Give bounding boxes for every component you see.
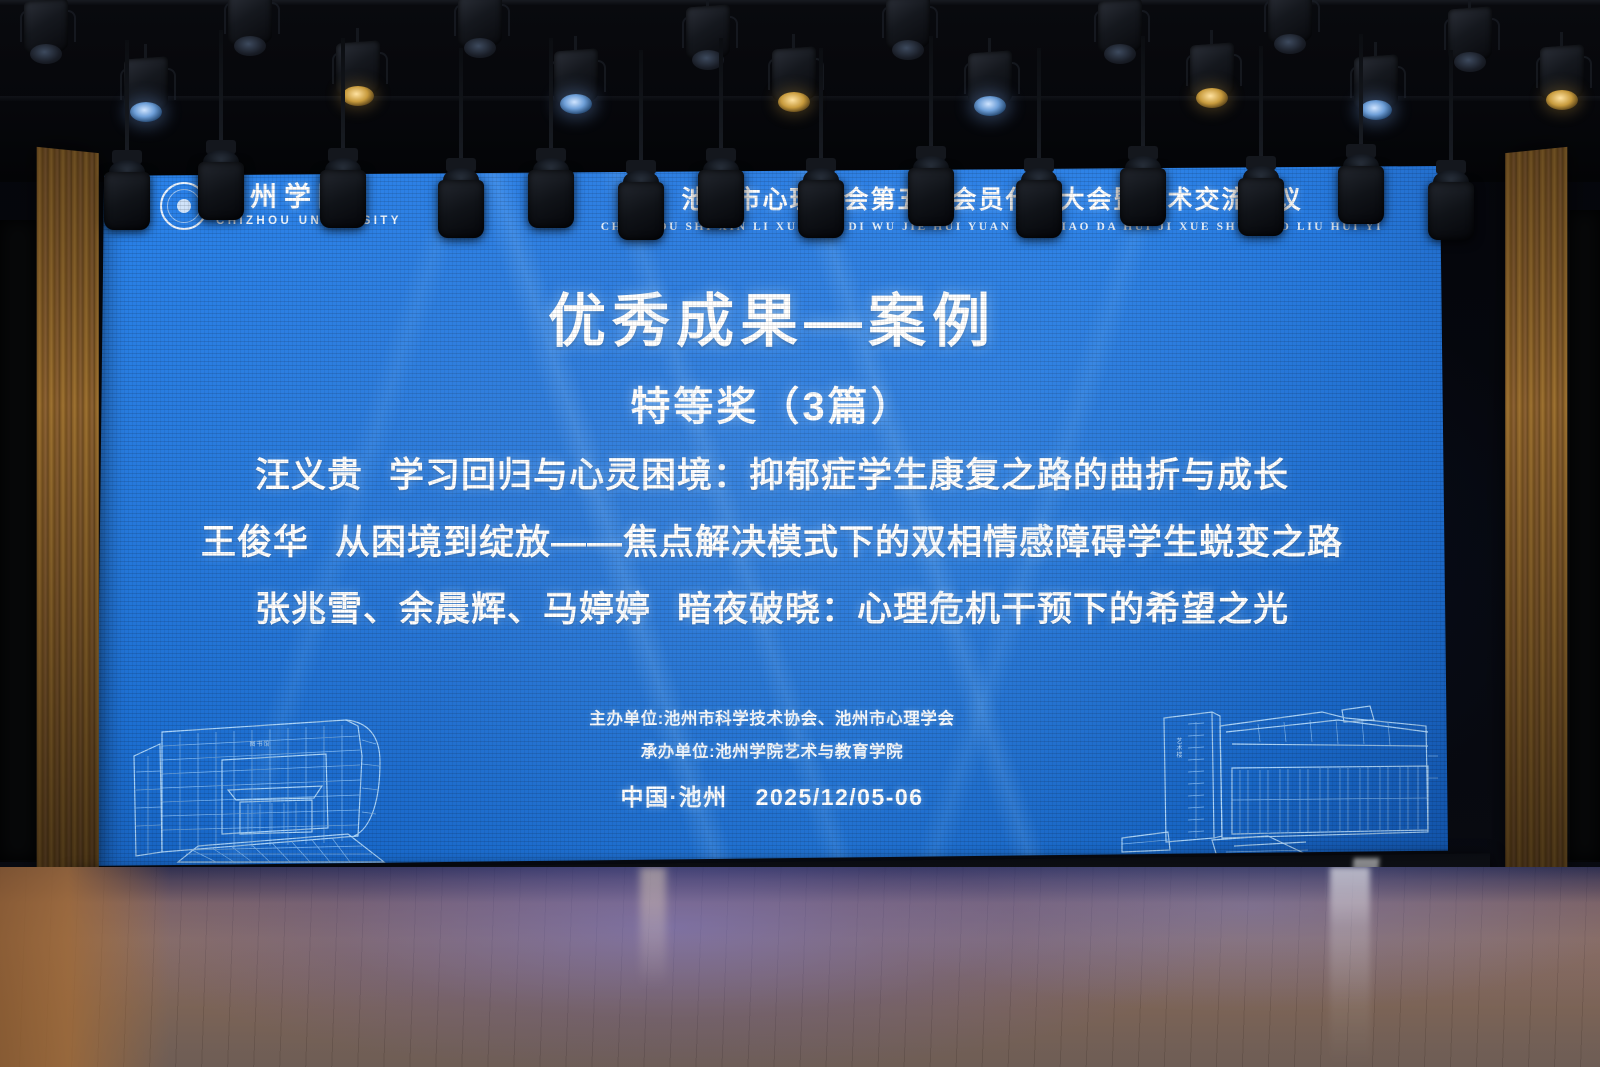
hanging-stage-light-icon	[1330, 154, 1392, 240]
hanging-stage-light-icon	[312, 158, 374, 244]
left-wood-proscenium	[37, 147, 99, 883]
stage-light-icon	[330, 42, 386, 116]
entry-work-title: 从困境到绽放——焦点解决模式下的双相情感障碍学生蜕变之路	[335, 523, 1343, 562]
award-entry: 王俊华从困境到绽放——焦点解决模式下的双相情感障碍学生蜕变之路	[120, 525, 1424, 560]
event-date-line: 中国·池州2025/12/05-06	[96, 778, 1448, 812]
event-city: 中国·池州	[620, 784, 727, 810]
stage-scene: 池州学院 CHIZHOU UNIVERSITY 池州市心理学会第五届会员代表大会…	[0, 0, 1600, 1067]
hanging-stage-light-icon	[1230, 166, 1292, 252]
left-dark-edge	[0, 220, 36, 860]
conference-slide: 池州学院 CHIZHOU UNIVERSITY 池州市心理学会第五届会员代表大会…	[96, 166, 1448, 866]
hanging-stage-light-icon	[96, 160, 158, 246]
led-display-screen: 池州学院 CHIZHOU UNIVERSITY 池州市心理学会第五届会员代表大会…	[96, 166, 1448, 866]
stage-light-icon	[962, 52, 1018, 126]
hanging-stage-light-icon	[900, 156, 962, 242]
hanging-stage-light-icon	[520, 158, 582, 244]
event-date: 2025/12/05-06	[756, 784, 924, 810]
award-entry: 张兆雪、余晨辉、马婷婷暗夜破晓：心理危机干预下的希望之光	[120, 592, 1424, 627]
floor-left-warm-edge	[0, 867, 170, 1067]
entry-author: 王俊华	[201, 523, 309, 562]
hanging-stage-light-icon	[190, 150, 252, 236]
stage-light-icon	[548, 50, 604, 124]
stage-light-icon	[1184, 44, 1240, 118]
entry-work-title: 暗夜破晓：心理危机干预下的希望之光	[677, 590, 1289, 629]
hanging-stage-light-icon	[790, 168, 852, 254]
stage-light-icon	[680, 6, 736, 80]
stage-light-icon	[1092, 0, 1148, 74]
co-organizer-line: 承办单位:池州学院艺术与教育学院	[96, 738, 1448, 762]
stage-light-icon	[880, 0, 936, 70]
hanging-stage-light-icon	[610, 170, 672, 256]
stage-light-icon	[1534, 46, 1590, 120]
organizer-line: 主办单位:池州市科学技术协会、池州市心理学会	[96, 705, 1448, 729]
hanging-stage-light-icon	[1420, 170, 1482, 256]
slide-main-title: 优秀成果—案例	[96, 274, 1448, 358]
hanging-stage-light-icon	[430, 168, 492, 254]
stage-light-icon	[766, 48, 822, 122]
entry-work-title: 学习回归与心灵困境：抑郁症学生康复之路的曲折与成长	[389, 456, 1289, 495]
floor-specular-reflection	[1330, 867, 1370, 1067]
entry-author: 张兆雪、余晨辉、马婷婷	[255, 590, 651, 629]
stage-light-icon	[222, 0, 278, 66]
entry-author: 汪义贵	[255, 456, 363, 495]
slide-footer: 主办单位:池州市科学技术协会、池州市心理学会 承办单位:池州学院艺术与教育学院 …	[96, 705, 1448, 812]
floor-secondary-reflection	[640, 867, 666, 987]
slide-subtitle: 特等奖（3篇）	[96, 374, 1448, 432]
hanging-stage-light-icon	[1112, 156, 1174, 242]
stage-light-icon	[18, 0, 74, 74]
stage-floor	[0, 867, 1600, 1067]
hanging-stage-light-icon	[1008, 168, 1070, 254]
award-entry-list: 汪义贵学习回归与心灵困境：抑郁症学生康复之路的曲折与成长 王俊华从困境到绽放——…	[120, 458, 1424, 659]
hanging-stage-light-icon	[690, 158, 752, 244]
right-dark-edge	[1570, 210, 1600, 860]
award-entry: 汪义贵学习回归与心灵困境：抑郁症学生康复之路的曲折与成长	[120, 458, 1424, 493]
right-wood-proscenium	[1505, 147, 1567, 883]
stage-light-icon	[1348, 56, 1404, 130]
stage-light-icon	[1262, 0, 1318, 64]
